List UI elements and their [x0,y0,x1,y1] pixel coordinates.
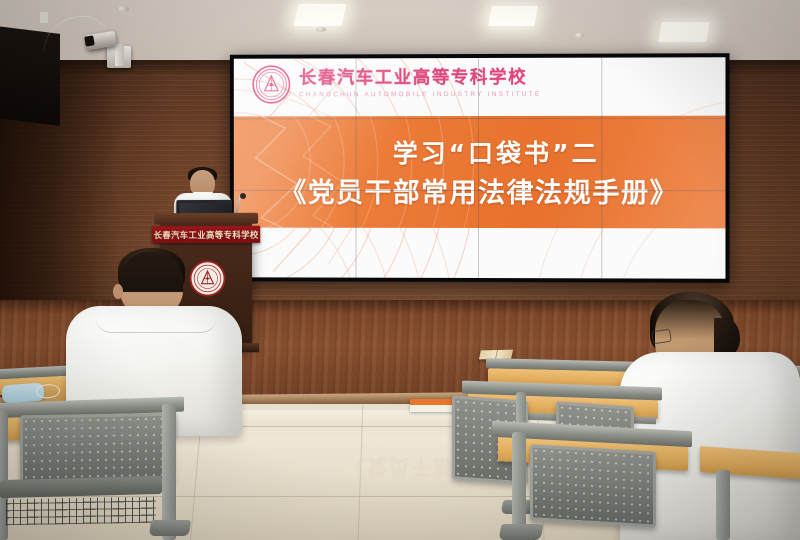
podium-banner-text: 长春汽车工业高等专科学校 [154,228,259,240]
attendee-right-glasses-icon [651,329,672,345]
screen-header: 长春汽车工业高等专科学校 CHANGCHUN AUTOMOBILE INDUST… [252,64,542,105]
lecture-hall-photo: 长春汽车工业高等专科学校 CHANGCHUN AUTOMOBILE INDUST… [0,0,800,540]
face-mask-on-desk [1,383,44,404]
seat-foot-near-left [149,520,191,536]
book-basket-near-left [6,497,156,526]
seat-foot-near-right [499,524,544,540]
video-wall-screen: 长春汽车工业高等专科学校 CHANGCHUN AUTOMOBILE INDUST… [234,57,726,278]
smoke-detector-3 [574,33,584,38]
seat-back-near-right[interactable] [530,444,656,528]
podium-top [154,213,258,225]
school-crest-icon [252,65,292,105]
screen-title-line1: 学习“口袋书”二 [393,134,600,170]
podium-banner: 长春汽车工业高等专科学校 [152,226,260,243]
attendee-left-shirt-seam [96,318,216,333]
camera-lens-icon [84,35,94,46]
video-wall[interactable]: 长春汽车工业高等专科学校 CHANGCHUN AUTOMOBILE INDUST… [230,53,730,283]
smoke-detector-2 [316,27,326,32]
screen-title-block: 学习“口袋书”二 《党员干部常用法律法规手册》 [234,116,726,229]
microphone-icon [240,193,246,199]
ceiling-light-2 [488,6,538,26]
podium-crest-icon [189,260,226,297]
smoke-detector [116,6,129,12]
screen-institution-cn: 长春汽车工业高等专科学校 [299,70,542,88]
cable-clip [40,12,48,23]
attendee-left-ear [113,284,123,299]
screen-title-line2: 《党员干部常用法律法规手册》 [280,171,679,210]
camera-mount [115,44,124,66]
seat-frame-far-right [716,470,730,540]
ceiling-light-3 [658,22,710,42]
screen-title-band: 学习“口袋书”二 《党员干部常用法律法规手册》 [234,116,726,229]
attendee-right-hair-side [714,318,740,356]
screen-institution-en: CHANGCHUN AUTOMOBILE INDUSTRY INSTITUTE [299,91,542,98]
ceiling-light-4 [300,8,310,15]
